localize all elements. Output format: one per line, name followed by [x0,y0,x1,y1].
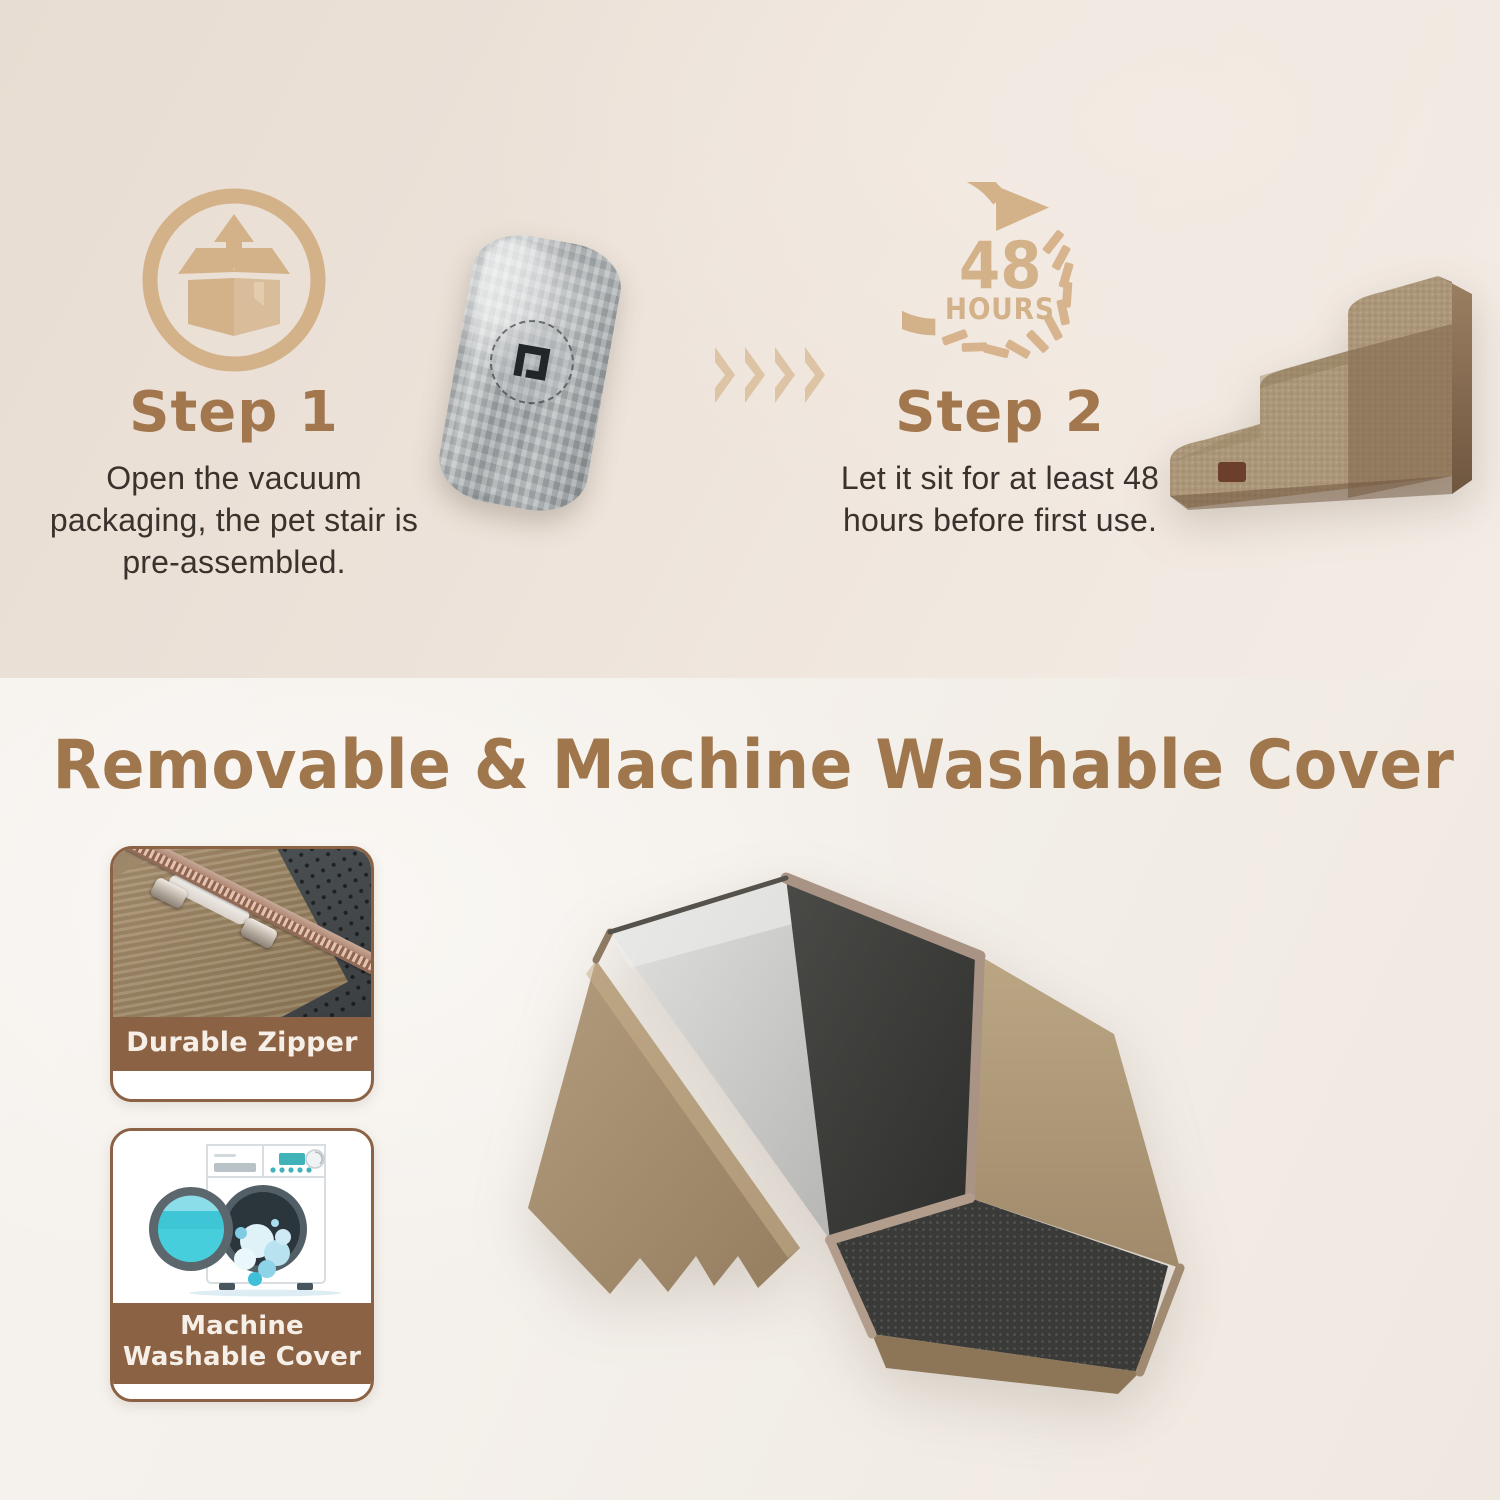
brand-logo-icon [509,339,555,385]
durable-zipper-label: Durable Zipper [113,1017,371,1071]
steps-section: Step 1 Open the vacuum packaging, the pe… [0,0,1500,678]
chevron-right-icon [772,344,798,406]
zipper-closeup-image [113,849,371,1017]
piping-left [596,932,610,960]
open-box-arrow-icon [136,182,332,378]
chevron-right-icon [742,344,768,406]
step-2-icon-wrap: 48 HOURS [800,180,1200,380]
vacuum-packed-roll-image [433,227,628,519]
machine-washable-label: Machine Washable Cover [113,1303,371,1384]
step-2-body: Let it sit for at least 48 hours before … [800,457,1200,541]
page-title: Removable & Machine Washable Cover [53,726,1448,805]
pet-stair-image [1152,248,1492,524]
washing-machine-icon [129,1137,355,1297]
step-2-title: Step 2 [800,384,1200,443]
durable-zipper-card: Durable Zipper [110,846,374,1102]
machine-washable-card: Machine Washable Cover [110,1128,374,1402]
step-1-icon-wrap [24,180,444,380]
machine-washable-label-line2: Washable Cover [117,1342,367,1373]
step-1-block: Step 1 Open the vacuum packaging, the pe… [24,180,444,584]
infographic-page: Step 1 Open the vacuum packaging, the pe… [0,0,1500,1500]
hours-word-text: HOURS [945,292,1055,327]
step-1-title: Step 1 [24,384,444,443]
machine-washable-label-line1: Machine [117,1311,367,1342]
unzipped-cover-hero-image [500,848,1200,1408]
step-2-block: 48 HOURS Step 2 Let it sit for at least … [800,180,1200,541]
48-hours-rotation-icon: 48 HOURS [902,182,1098,378]
step-1-body: Open the vacuum packaging, the pet stair… [24,457,444,584]
washing-machine-image [113,1131,371,1303]
brand-tag [1218,462,1246,482]
chevron-right-icon [712,344,738,406]
